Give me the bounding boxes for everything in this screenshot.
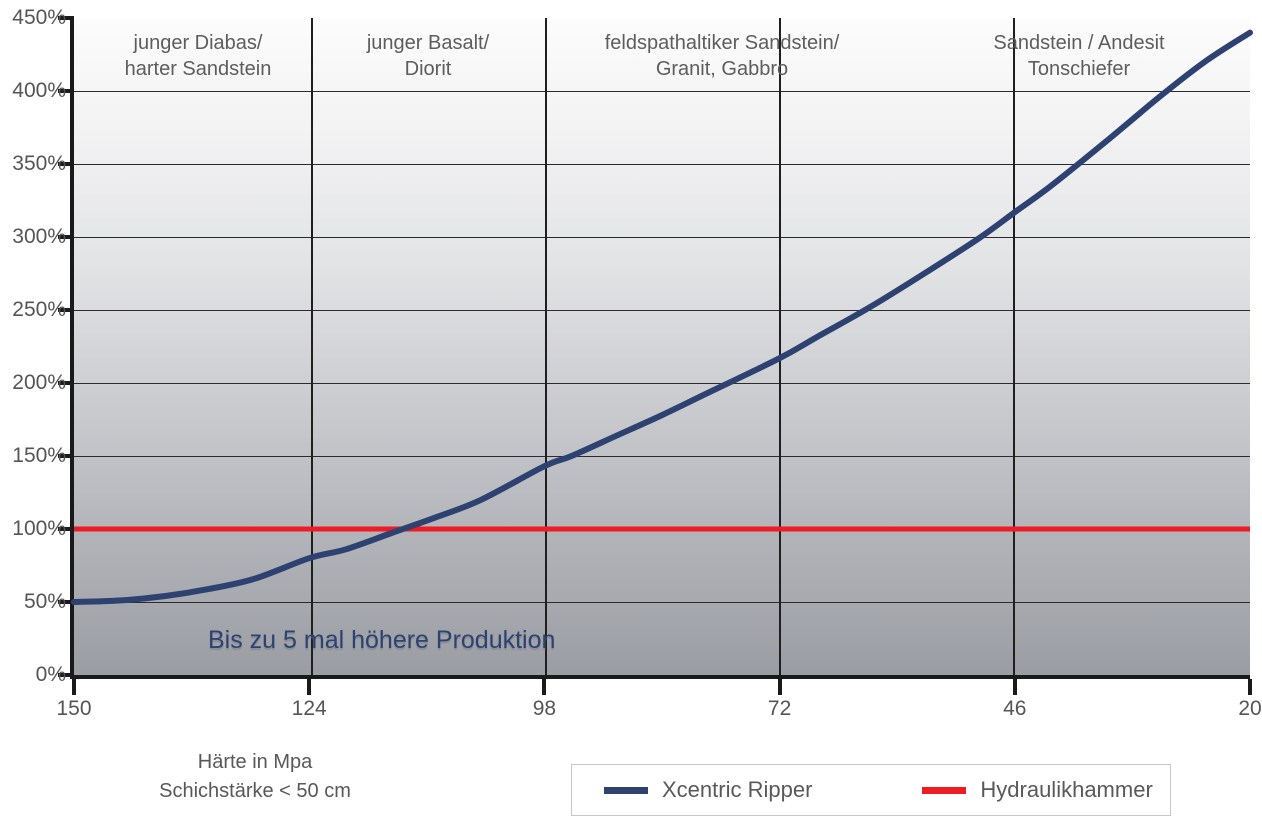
x-axis-title-line2: Schichstärke < 50 cm (145, 777, 365, 806)
y-tick-label: 100% (12, 517, 66, 541)
y-tick-label: 0% (36, 663, 66, 687)
y-tick-label: 400% (12, 79, 66, 103)
production-comparison-chart: 0%50%100%150%200%250%300%350%400%450% 15… (0, 0, 1262, 829)
series-plot (74, 18, 1250, 675)
y-tick-label: 450% (12, 6, 66, 30)
x-tick-label: 98 (533, 697, 556, 721)
x-tick-mark (542, 679, 546, 695)
chart-legend: Xcentric Ripper Hydraulikhammer (571, 764, 1171, 816)
x-tick-mark (1013, 679, 1017, 695)
y-tick-label: 300% (12, 225, 66, 249)
x-tick-label: 46 (1003, 697, 1026, 721)
x-tick-mark (778, 679, 782, 695)
x-tick-label: 20 (1238, 697, 1261, 721)
legend-item-xcentric-ripper: Xcentric Ripper (604, 777, 812, 803)
x-axis-line (70, 675, 1250, 679)
legend-item-hydraulikhammer: Hydraulikhammer (922, 777, 1152, 803)
legend-label-hydraulikhammer: Hydraulikhammer (980, 777, 1152, 803)
x-axis-title-line1: Härte in Mpa (145, 748, 365, 777)
plot-annotation-production: Bis zu 5 mal höhere Produktion (208, 626, 555, 655)
y-tick-label: 150% (12, 444, 66, 468)
x-tick-label: 124 (292, 697, 327, 721)
series-line-xcentric-ripper (74, 33, 1250, 602)
y-tick-label: 250% (12, 298, 66, 322)
x-tick-label: 150 (56, 697, 91, 721)
legend-label-xcentric-ripper: Xcentric Ripper (662, 777, 812, 803)
x-tick-mark (307, 679, 311, 695)
x-axis-title: Härte in Mpa Schichstärke < 50 cm (145, 748, 365, 806)
y-tick-label: 350% (12, 152, 66, 176)
x-tick-label: 72 (768, 697, 791, 721)
x-tick-mark (72, 679, 76, 695)
y-tick-label: 200% (12, 371, 66, 395)
legend-swatch-icon (604, 787, 648, 794)
legend-swatch-icon (922, 787, 966, 794)
y-tick-label: 50% (24, 590, 66, 614)
x-tick-mark (1248, 679, 1252, 695)
